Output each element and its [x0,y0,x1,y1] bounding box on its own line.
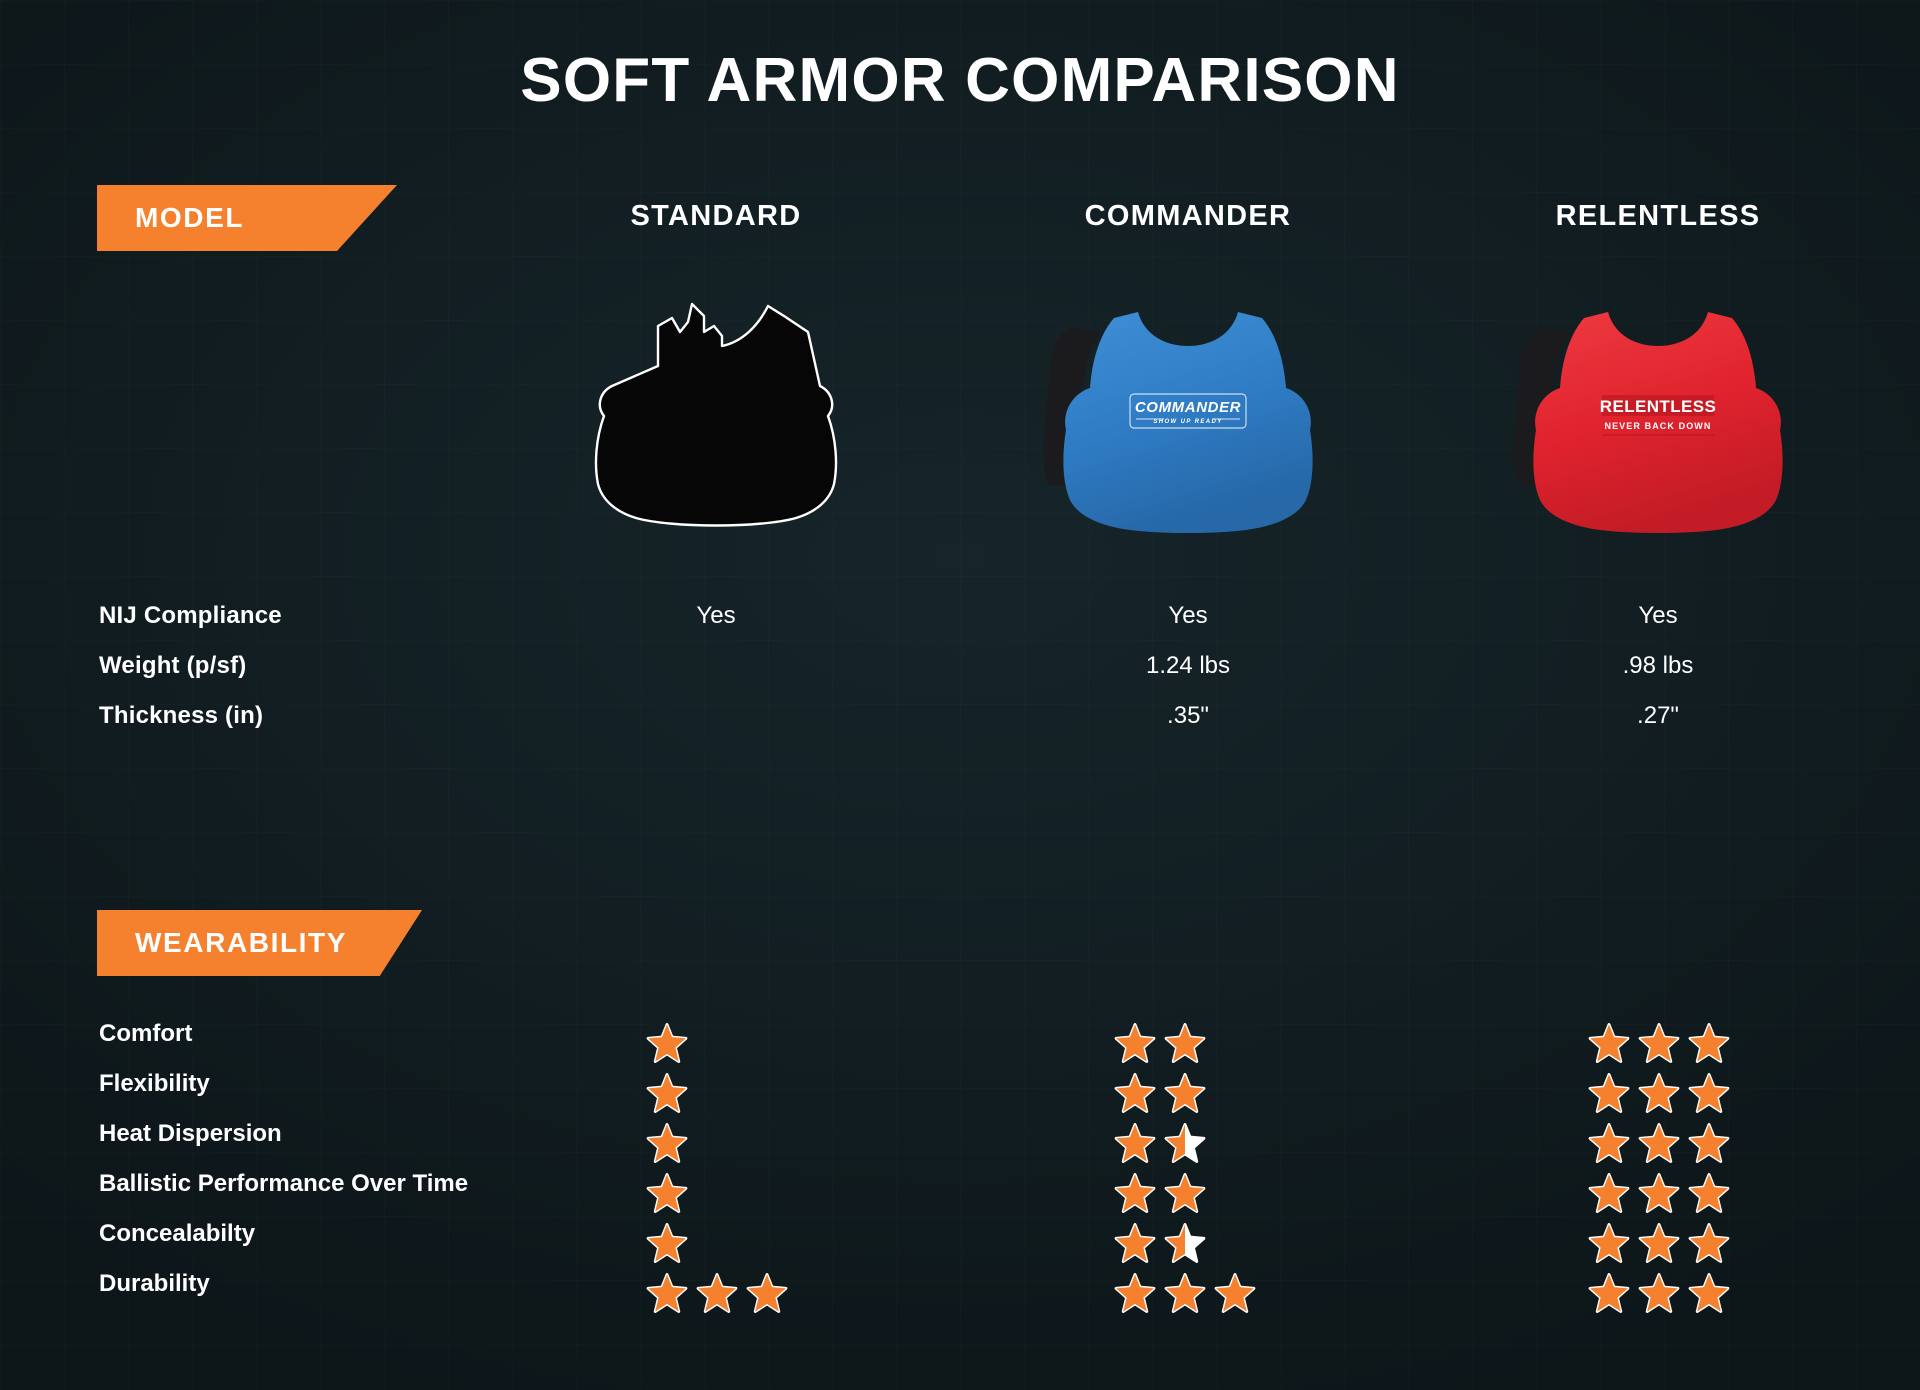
star-icon [696,1272,738,1314]
spec-row: Thickness (in) .35" .27" [0,702,1920,752]
star-icon [1638,1172,1680,1214]
star-icon [646,1122,688,1164]
wearability-row: Ballistic Performance Over Time [0,1170,1920,1220]
wearability-label: Ballistic Performance Over Time [99,1170,468,1198]
star-icon [646,1222,688,1264]
star-icon [646,1072,688,1114]
rating-stars-relentless [1588,1220,1920,1266]
rating-stars-relentless [1588,1020,1920,1066]
star-icon [1638,1272,1680,1314]
star-icon [1688,1172,1730,1214]
rating-stars-relentless [1588,1070,1920,1116]
rating-stars-commander [1114,1220,1454,1266]
star-icon [746,1272,788,1314]
wearability-row: Durability [0,1270,1920,1320]
rating-stars-relentless [1588,1170,1920,1216]
star-icon [1688,1272,1730,1314]
infographic-root: SOFT ARMOR COMPARISON MODEL STANDARD COM… [0,0,1920,1390]
star-icon [1588,1122,1630,1164]
section-banner-wearability: WEARABILITY [97,910,422,976]
wearability-row: Comfort [0,1020,1920,1070]
star-icon [1638,1022,1680,1064]
rating-stars-commander [1114,1270,1454,1316]
vest-illustration-commander: COMMANDER SHOW UP READY [1018,288,1358,538]
star-icon [1164,1072,1206,1114]
star-icon [646,1272,688,1314]
vest-illustration-standard [546,288,886,538]
column-header-commander: COMMANDER [1018,200,1358,233]
rating-stars-commander [1114,1070,1454,1116]
spec-label: Thickness (in) [99,702,263,730]
rating-stars-relentless [1588,1270,1920,1316]
spec-value-commander: 1.24 lbs [1018,652,1358,680]
star-icon [1688,1222,1730,1264]
star-icon [646,1172,688,1214]
star-icon [1114,1272,1156,1314]
column-header-relentless: RELENTLESS [1488,200,1828,233]
spec-value-commander: .35" [1018,702,1358,730]
star-icon [1638,1222,1680,1264]
vest-badge-title-relentless: RELENTLESS [1600,397,1716,416]
star-icon [1588,1022,1630,1064]
star-icon [1588,1222,1630,1264]
spec-row: Weight (p/sf) 1.24 lbs .98 lbs [0,652,1920,702]
page-title: SOFT ARMOR COMPARISON [0,45,1920,116]
rating-stars-commander [1114,1170,1454,1216]
wearability-row: Flexibility [0,1070,1920,1120]
rating-stars-standard [646,1220,986,1266]
star-icon [1164,1222,1206,1264]
star-icon [1114,1122,1156,1164]
star-icon [1164,1122,1206,1164]
wearability-label: Comfort [99,1020,192,1048]
star-icon [1638,1122,1680,1164]
spec-value-relentless: Yes [1488,602,1828,630]
wearability-label: Heat Dispersion [99,1120,282,1148]
star-icon [1588,1172,1630,1214]
rating-stars-standard [646,1120,986,1166]
star-icon [646,1022,688,1064]
star-icon [1688,1072,1730,1114]
wearability-row: Heat Dispersion [0,1120,1920,1170]
spec-row: NIJ Compliance Yes Yes Yes [0,602,1920,652]
rating-stars-commander [1114,1120,1454,1166]
star-icon [1588,1272,1630,1314]
star-icon [1114,1072,1156,1114]
section-banner-wearability-label: WEARABILITY [135,927,347,959]
star-icon [1638,1072,1680,1114]
spec-value-commander: Yes [1018,602,1358,630]
column-header-standard: STANDARD [546,200,886,233]
rating-stars-standard [646,1270,986,1316]
star-icon [1114,1022,1156,1064]
vest-illustration-relentless: RELENTLESS NEVER BACK DOWN [1488,288,1828,538]
wearability-label: Flexibility [99,1070,210,1098]
spec-label: Weight (p/sf) [99,652,246,680]
wearability-label: Concealabilty [99,1220,255,1248]
rating-stars-relentless [1588,1120,1920,1166]
rating-stars-standard [646,1070,986,1116]
star-icon [1114,1222,1156,1264]
star-icon [1114,1172,1156,1214]
spec-label: NIJ Compliance [99,602,282,630]
star-icon [1688,1022,1730,1064]
vest-badge-title-commander: COMMANDER [1135,399,1241,416]
rating-stars-standard [646,1020,986,1066]
star-icon [1214,1272,1256,1314]
spec-value-relentless: .27" [1488,702,1828,730]
rating-stars-standard [646,1170,986,1216]
wearability-row: Concealabilty [0,1220,1920,1270]
rating-stars-commander [1114,1020,1454,1066]
section-banner-model: MODEL [97,185,397,251]
vest-badge-sub-relentless: NEVER BACK DOWN [1604,421,1711,431]
section-banner-model-label: MODEL [135,202,244,234]
star-icon [1688,1122,1730,1164]
wearability-label: Durability [99,1270,210,1298]
star-icon [1164,1272,1206,1314]
star-icon [1588,1072,1630,1114]
spec-value-standard: Yes [546,602,886,630]
vest-badge-sub-commander: SHOW UP READY [1153,419,1222,425]
star-icon [1164,1022,1206,1064]
star-icon [1164,1172,1206,1214]
spec-value-relentless: .98 lbs [1488,652,1828,680]
